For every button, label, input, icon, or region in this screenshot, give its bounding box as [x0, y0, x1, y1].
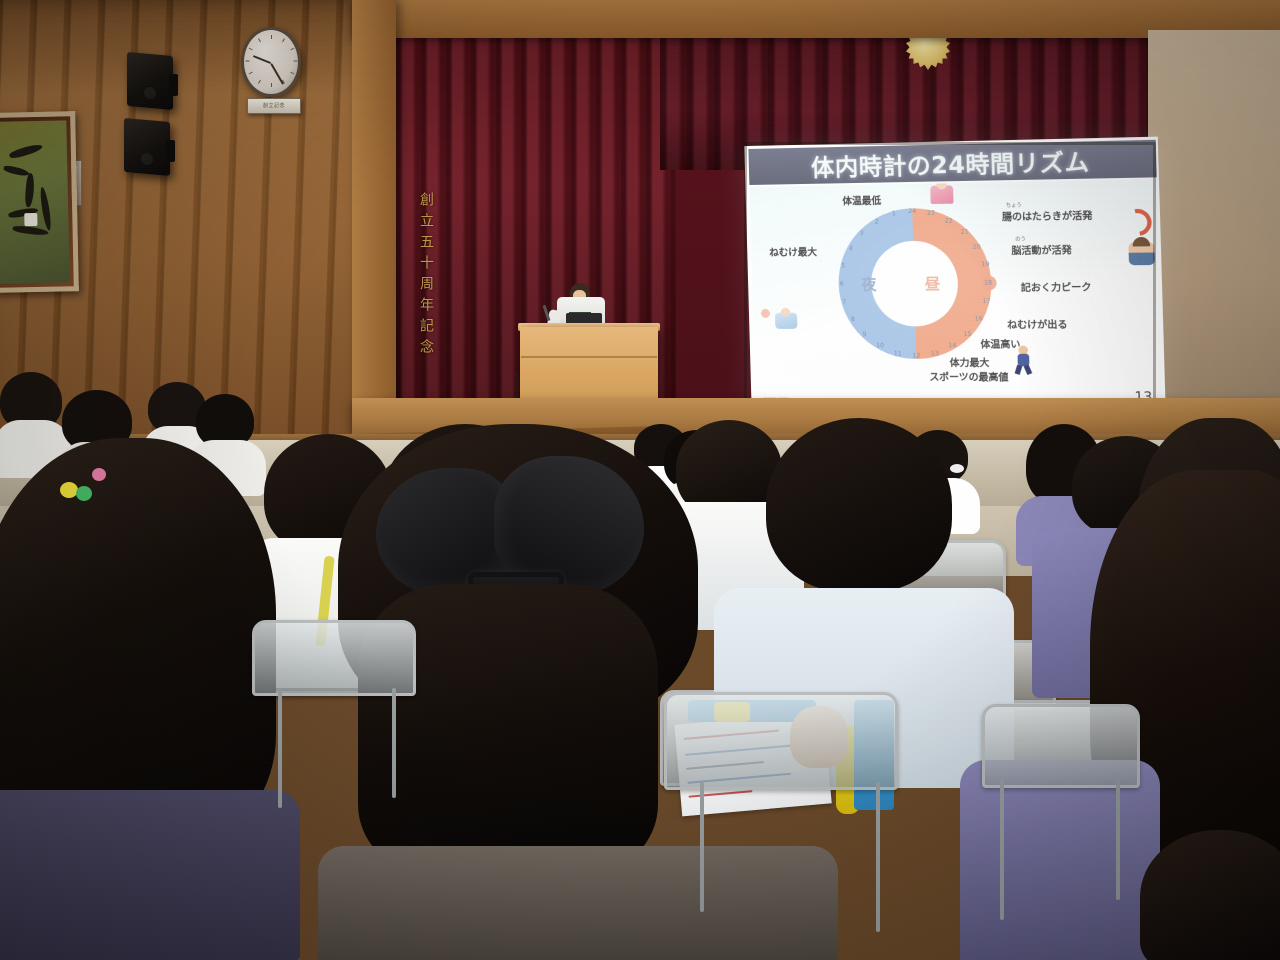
wall-speaker-lower	[124, 118, 170, 176]
chair-leg	[876, 782, 880, 932]
chair-leg	[278, 688, 282, 808]
hair-tie-green	[76, 486, 92, 501]
framed-calligraphy-artwork	[0, 111, 79, 293]
plaque-text: 創立記念	[248, 99, 300, 113]
brush-stroke	[24, 173, 35, 208]
chair-leg	[392, 688, 396, 798]
stage-right-wall	[1148, 30, 1280, 442]
brush-stroke	[3, 165, 30, 178]
speaker-bracket	[169, 74, 178, 96]
commemorative-plaque: 創立記念	[247, 98, 301, 114]
podium-seam	[521, 356, 657, 358]
chair-front-center[interactable]	[664, 692, 898, 790]
brush-stroke	[9, 142, 44, 160]
brush-stroke	[39, 186, 53, 231]
calligraphy-canvas	[0, 120, 70, 283]
student-front-left-shirt	[0, 790, 300, 960]
hair-tie-yellow	[60, 482, 78, 498]
chair-leg	[1000, 780, 1004, 920]
wall-clock-icon	[241, 27, 301, 97]
anniversary-banner-text: 創立五十周年記念	[407, 192, 435, 360]
brush-stroke	[12, 225, 49, 236]
hair-tie-pink	[92, 468, 106, 481]
proscenium-header	[352, 0, 1280, 38]
speaker-bracket	[166, 140, 175, 162]
wall-speaker-upper	[127, 52, 173, 110]
chair-front-left[interactable]	[252, 620, 416, 696]
artist-seal	[24, 213, 37, 226]
chair-leg	[1116, 780, 1120, 900]
student-front-center-shirt	[318, 846, 838, 960]
projection-screen-frame	[744, 142, 1156, 420]
student-front-right-shirt	[960, 760, 1160, 960]
chair-leg	[700, 782, 704, 912]
chair-front-right[interactable]	[982, 704, 1140, 788]
hair-tie	[950, 464, 964, 473]
proscenium-left-pillar	[352, 0, 396, 430]
photograph-scene: 創立記念 創立五十周年記念 体内時計の24時間リズム 夜 昼 1 2 3 4 5…	[0, 0, 1280, 960]
